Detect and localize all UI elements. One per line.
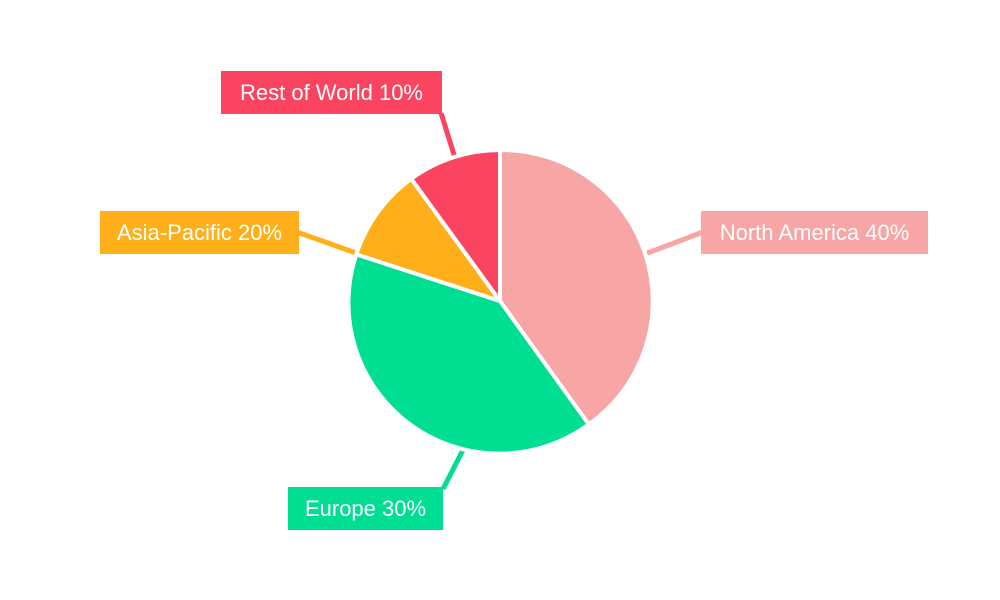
pie-chart-canvas: [0, 0, 1000, 600]
leader-line-asia-pacific: [297, 232, 356, 253]
slice-label-rest-of-world: Rest of World 10%: [221, 71, 442, 114]
pie-slices: [348, 150, 652, 454]
leader-line-north-america: [645, 232, 703, 254]
leader-line-rest-of-world: [441, 113, 456, 161]
slice-label-asia-pacific: Asia-Pacific 20%: [100, 211, 299, 254]
pie-chart: North America 40% Europe 30% Asia-Pacifi…: [0, 0, 1000, 600]
slice-label-europe: Europe 30%: [288, 487, 443, 530]
slice-label-north-america: North America 40%: [701, 211, 928, 254]
